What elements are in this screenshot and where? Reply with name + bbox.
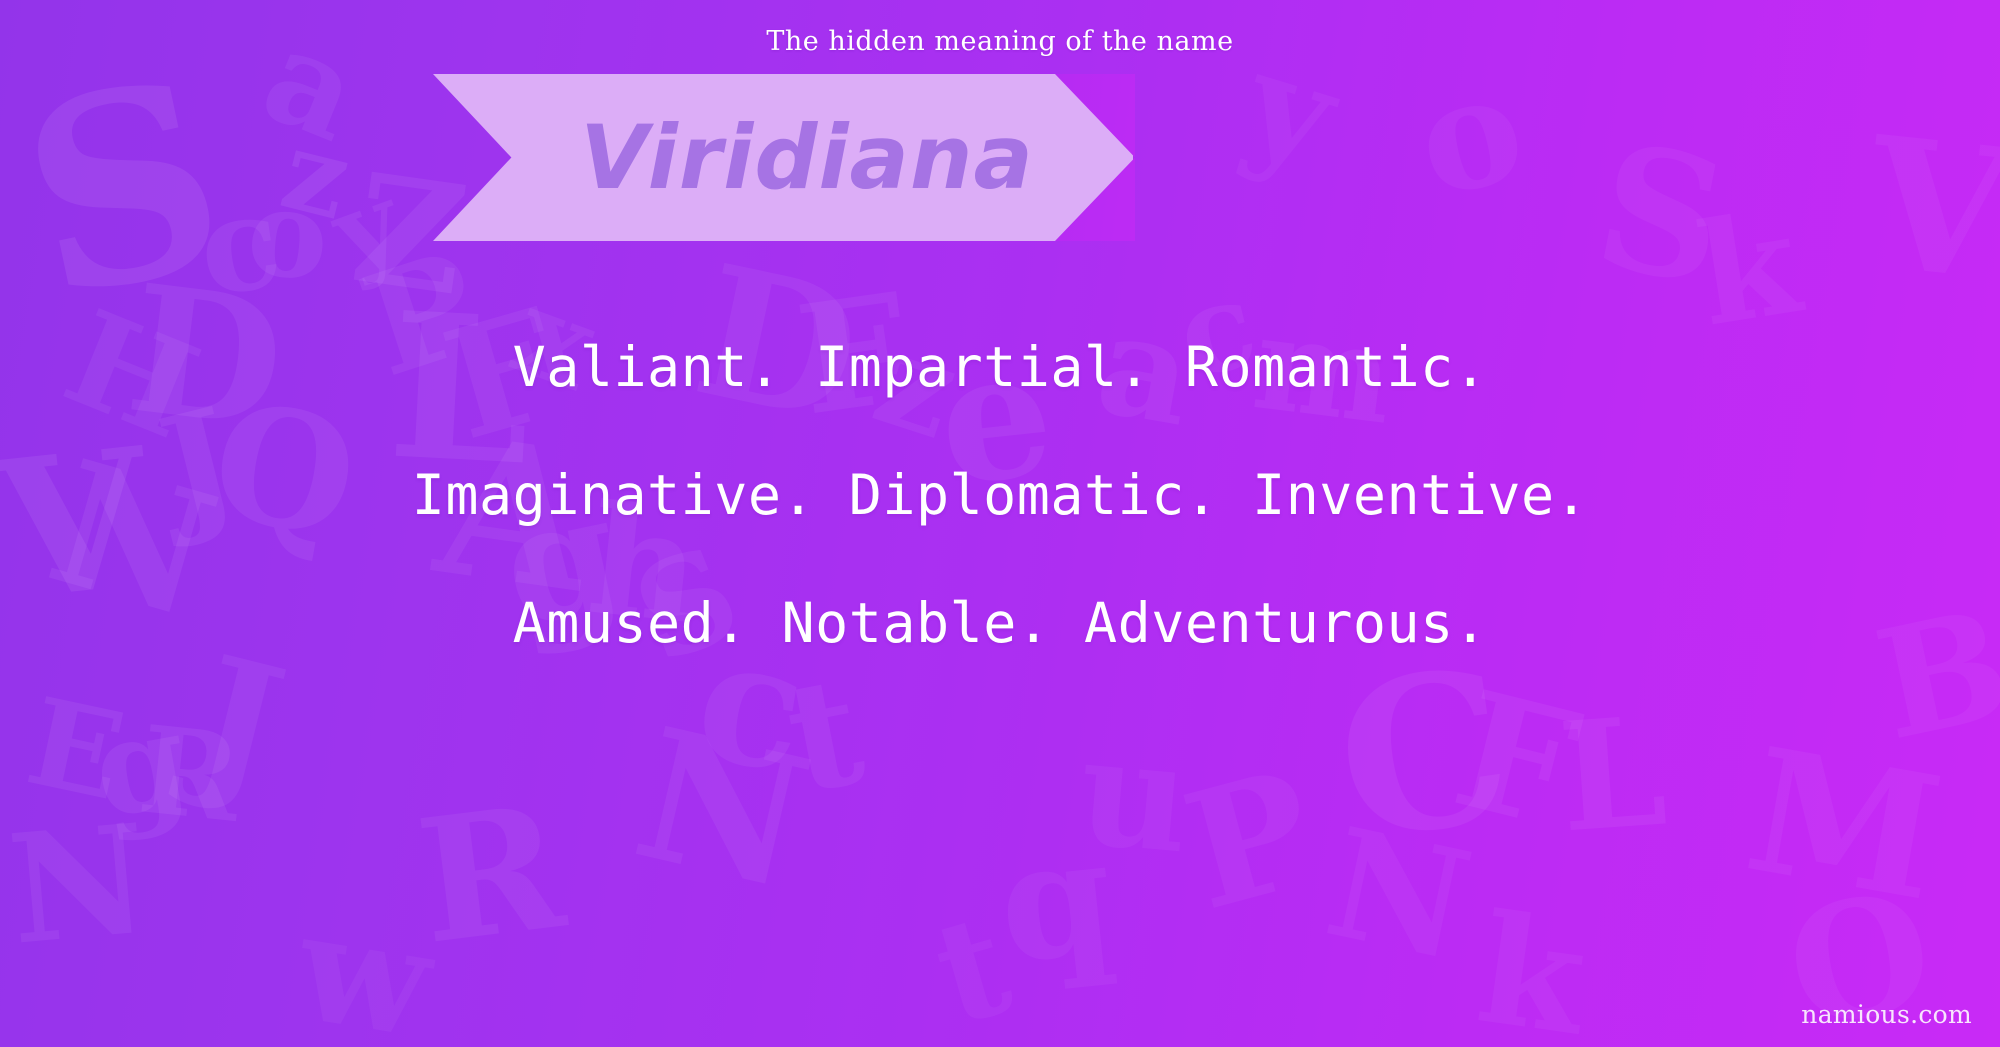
background-letter: w [289, 891, 440, 1047]
trait-line-3: Amused. Notable. Adventurous. [0, 596, 2000, 651]
background-letter: R [134, 710, 246, 840]
trait-line-1: Valiant. Impartial. Romantic. [0, 340, 2000, 395]
background-letter: F [1442, 669, 1591, 852]
background-letter: g [84, 693, 196, 837]
background-letter: N [4, 804, 154, 965]
background-letter: S [5, 43, 243, 336]
page-title: The hidden meaning of the name [0, 26, 2000, 57]
background-letter: R [410, 782, 571, 968]
trait-line-2: Imaginative. Diplomatic. Inventive. [0, 468, 2000, 523]
background-letter: k [1470, 893, 1594, 1047]
trait-list: Valiant. Impartial. Romantic. Imaginativ… [0, 340, 2000, 651]
background-letter: y [320, 168, 413, 288]
background-letter: N [622, 704, 823, 916]
background-letter: E [19, 682, 133, 818]
name-text: Viridiana [580, 106, 1034, 209]
background-letter: o [243, 172, 333, 299]
background-letter: k [1690, 193, 1808, 346]
background-letter: P [1171, 747, 1329, 933]
background-letter: N [1316, 807, 1481, 982]
name-meaning-card: SzcoyaZVNJQDPEgRNJLFxAghSDFzeacmCFLMBctN… [0, 0, 2000, 1047]
name-ribbon-banner: Viridiana [433, 74, 1133, 241]
background-letter: z [273, 114, 360, 236]
background-letter: M [1737, 725, 1952, 925]
background-letter: t [922, 894, 1023, 1046]
background-letter: C [1326, 639, 1521, 870]
background-letter: S [1585, 120, 1738, 310]
background-letter: t [776, 655, 873, 815]
background-letter: V [1861, 113, 2000, 307]
background-letter: q [992, 815, 1120, 986]
background-letter: c [191, 175, 287, 315]
site-watermark: namious.com [1801, 1000, 1972, 1029]
background-letter: o [1404, 51, 1535, 220]
background-letter: J [181, 633, 297, 812]
background-letter: u [1074, 716, 1196, 875]
background-letter: L [1555, 697, 1671, 854]
